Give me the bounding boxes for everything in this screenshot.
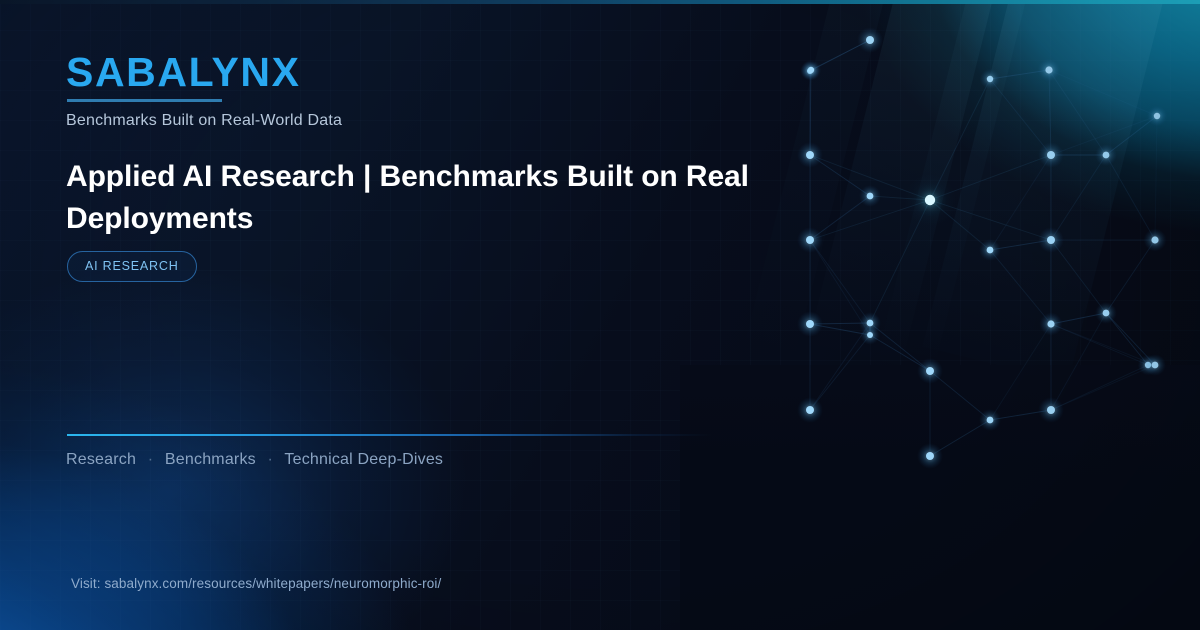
card-content: SABALYNX Benchmarks Built on Real-World … bbox=[0, 0, 1200, 630]
visit-url[interactable]: Visit: sabalynx.com/resources/whitepaper… bbox=[71, 576, 441, 591]
footer-link-research[interactable]: Research bbox=[66, 451, 136, 468]
footer-separator: · bbox=[141, 451, 161, 468]
brand-tagline: Benchmarks Built on Real-World Data bbox=[66, 112, 342, 130]
footer-links: Research · Benchmarks · Technical Deep-D… bbox=[66, 451, 443, 469]
share-card: SABALYNX Benchmarks Built on Real-World … bbox=[0, 0, 1200, 630]
footer-divider bbox=[67, 434, 712, 436]
page-title: Applied AI Research | Benchmarks Built o… bbox=[66, 156, 766, 240]
footer-link-deep-dives[interactable]: Technical Deep-Dives bbox=[284, 451, 443, 468]
footer-link-benchmarks[interactable]: Benchmarks bbox=[165, 451, 256, 468]
footer-separator: · bbox=[261, 451, 281, 468]
brand-rule bbox=[67, 99, 222, 102]
status-badge: AI RESEARCH bbox=[67, 251, 197, 282]
brand-logo[interactable]: SABALYNX bbox=[66, 52, 301, 93]
